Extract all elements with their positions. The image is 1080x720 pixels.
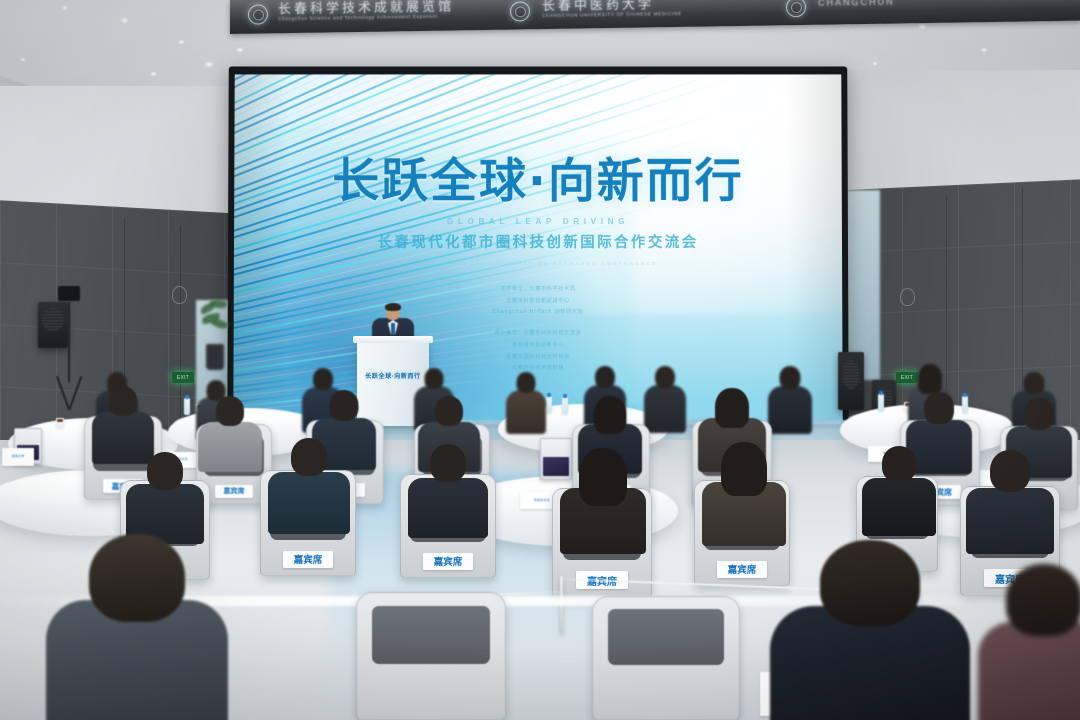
person-head xyxy=(147,452,183,490)
exit-sign: EXIT xyxy=(172,372,194,383)
slide-info-line: 长春市国际科技合作协会 xyxy=(438,352,638,364)
person-head xyxy=(990,450,1030,492)
venue-sign-science-museum: 长春科学技术成就展览馆 Changchun Science and Techno… xyxy=(278,0,454,21)
venue-sign-en: Changchun Science and Technology Achieve… xyxy=(278,13,454,21)
person-head xyxy=(1024,372,1045,394)
audience-person xyxy=(768,366,812,432)
person-head xyxy=(595,366,615,388)
water-bottle xyxy=(878,394,884,411)
chair-placard-label: 嘉宾席 xyxy=(728,562,757,576)
ceiling-light xyxy=(236,48,244,52)
ceiling-light xyxy=(872,62,878,65)
person-hair xyxy=(579,448,627,506)
guest-chair[interactable] xyxy=(592,596,740,720)
audience-person xyxy=(560,448,646,550)
chair-placard: 嘉宾席 xyxy=(215,485,253,498)
slide-subtitle-en: GLOBAL LEAP DRIVING xyxy=(234,217,842,226)
chair-placard: 嘉宾席 xyxy=(423,553,473,570)
person-body xyxy=(862,478,936,536)
venue-sign-cn: 长春中医药大学 xyxy=(542,0,682,13)
speaker-tie xyxy=(391,323,395,335)
venue-sign-university: 长春中医药大学 CHANGCHUN UNIVERSITY OF CHINESE … xyxy=(542,0,682,18)
person-body xyxy=(408,478,488,538)
venue-sign-cn: 长春科学技术成就展览馆 xyxy=(278,0,454,16)
person-head xyxy=(780,366,801,389)
person-head xyxy=(924,392,954,424)
name-card: 吉林大学 xyxy=(2,448,34,466)
potted-plant-left xyxy=(198,300,232,370)
camera-tripod-left xyxy=(52,286,86,410)
university-emblem-icon xyxy=(510,1,530,21)
person-head xyxy=(89,534,185,622)
slide-title: 长跃全球·向新而行 xyxy=(234,158,842,205)
foreground-person-right xyxy=(770,540,970,720)
ceiling-light xyxy=(20,58,26,61)
person-hair xyxy=(721,442,767,496)
person-hair xyxy=(715,388,749,428)
person-body xyxy=(506,390,546,434)
slide-info-line: 吉林省科技创新中心 xyxy=(438,340,638,352)
person-head xyxy=(291,438,327,476)
person-head xyxy=(820,540,920,626)
person-head xyxy=(425,368,444,389)
person-head xyxy=(109,386,137,416)
person-head xyxy=(313,368,333,390)
person-head xyxy=(517,372,536,393)
audience-person xyxy=(966,450,1054,550)
name-card-text: 科技处处长 xyxy=(534,499,550,503)
person-body xyxy=(978,622,1080,720)
tripod-leg xyxy=(68,376,82,410)
chair-mesh-back xyxy=(372,606,490,664)
person-body xyxy=(768,386,812,434)
slide-info-group: 主办单位：长春市科学技术局 长春市科技创新促进中心 Changchun Hi-T… xyxy=(438,284,638,319)
person-body xyxy=(644,385,686,433)
water-bottle xyxy=(184,398,190,415)
person-body xyxy=(198,422,262,472)
ceiling-light xyxy=(918,24,927,29)
plant-pot xyxy=(206,344,224,370)
audience-person xyxy=(92,386,154,458)
water-bottle xyxy=(546,396,552,413)
person-head xyxy=(430,444,466,482)
water-bottle xyxy=(562,397,568,414)
slide-info-line: 长春市科技创新促进中心 xyxy=(438,296,638,308)
name-card-text: 吉林大学 xyxy=(12,455,25,459)
person-head xyxy=(655,366,675,388)
wall-emblem-icon xyxy=(900,288,915,306)
ceiling-light xyxy=(204,62,214,67)
audience-person xyxy=(268,438,350,530)
person-head xyxy=(1006,564,1080,636)
conference-hall-photo: 长春科学技术成就展览馆 Changchun Science and Techno… xyxy=(0,0,1080,720)
foreground-person-far-right xyxy=(978,564,1080,720)
ceiling-light xyxy=(178,40,185,44)
podium-top xyxy=(353,336,433,343)
person-hair xyxy=(918,364,942,394)
audience-person xyxy=(506,372,546,432)
audience-person xyxy=(862,446,936,532)
pa-speaker-right xyxy=(838,352,864,410)
university-emblem-icon xyxy=(248,4,268,24)
camera-head xyxy=(58,286,80,301)
ceiling-light xyxy=(120,18,129,23)
foreground-person-left xyxy=(46,534,228,720)
ceiling-light xyxy=(980,48,988,52)
person-body xyxy=(966,488,1054,554)
speaker-hair xyxy=(385,303,401,311)
wall-emblem-icon xyxy=(172,286,187,304)
ceiling-light xyxy=(150,72,157,76)
audience-person xyxy=(126,452,204,540)
slide-subtitle-en2: INTERNATIONAL COOPERATION EXCHANGE CONFE… xyxy=(234,261,842,266)
slide-info-line: 主办单位：长春市科学技术局 xyxy=(438,284,638,296)
chair-placard-label: 嘉宾席 xyxy=(294,552,323,566)
person-hair xyxy=(594,396,626,434)
guest-chair[interactable] xyxy=(356,592,506,720)
exit-sign-label: EXIT xyxy=(177,375,189,381)
slide-info-line: 承办单位：长春市对外科技交流会 xyxy=(438,328,638,340)
venue-sign-en: CHANGCHUN xyxy=(818,0,895,9)
person-head xyxy=(1024,398,1054,430)
coffee-cup xyxy=(56,418,64,428)
audience-person xyxy=(198,396,262,466)
slide-info-line: Changchun Hi-Tech 创新研究院 xyxy=(438,307,638,319)
chair-placard-label: 嘉宾席 xyxy=(224,486,245,496)
slide-info-blocks: 主办单位：长春市科学技术局 长春市科技创新促进中心 Changchun Hi-T… xyxy=(438,284,638,375)
person-body xyxy=(268,472,350,534)
venue-sign-en: CHANGCHUN UNIVERSITY OF CHINESE MEDICINE xyxy=(542,11,682,19)
ceiling-light xyxy=(62,6,68,10)
person-head xyxy=(435,396,463,426)
audience-person xyxy=(702,442,786,540)
chair-placard: 嘉宾席 xyxy=(283,551,333,568)
person-head xyxy=(882,446,916,482)
tripod-pole xyxy=(68,302,70,382)
audience-person xyxy=(644,366,686,430)
person-head xyxy=(330,390,359,421)
chair-mesh-back xyxy=(608,609,725,665)
chair-placard-label: 嘉宾席 xyxy=(434,554,463,568)
slide-subtitle-cn: 长春现代化都市圈科技创新国际合作交流会 xyxy=(234,231,842,252)
university-emblem-icon xyxy=(786,0,806,17)
venue-sign-changchun: CHANGCHUN xyxy=(818,0,895,9)
audience-person xyxy=(408,444,488,534)
plant-leaf xyxy=(211,317,229,331)
chair-placard: 嘉宾席 xyxy=(717,561,767,578)
person-head xyxy=(216,396,244,426)
